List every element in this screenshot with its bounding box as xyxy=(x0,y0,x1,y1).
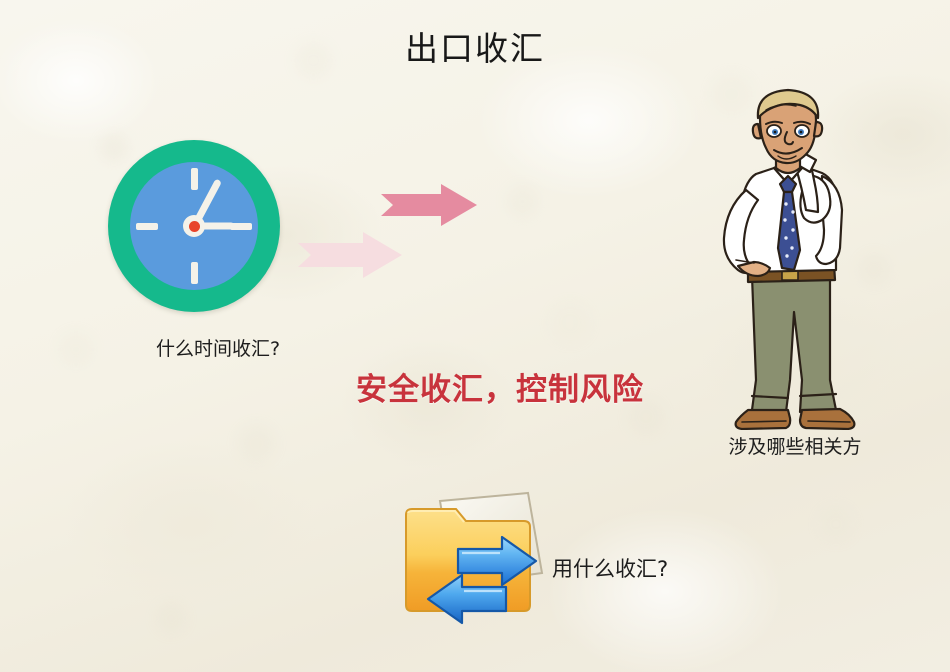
clock-tick-12 xyxy=(191,168,198,190)
clock-tick-6 xyxy=(191,262,198,284)
clock-icon xyxy=(108,140,280,312)
clock-face xyxy=(130,162,258,290)
highlight-text: 安全收汇，控制风险 xyxy=(330,364,670,409)
businessman-thinking-icon xyxy=(690,80,890,430)
folder-caption: 用什么收汇? xyxy=(552,553,668,583)
folder-exchange-icon xyxy=(396,487,576,627)
pink-arrow-lower xyxy=(298,232,402,278)
clock-caption: 什么时间收汇? xyxy=(118,334,318,361)
businessman-caption: 涉及哪些相关方 xyxy=(690,432,900,459)
pink-arrow-upper xyxy=(381,184,477,226)
clock-tick-9 xyxy=(136,223,158,230)
page-title: 出口收汇 xyxy=(0,32,950,65)
clock-hub-dot xyxy=(189,221,200,232)
slide-canvas: 出口收汇 什么时间收汇? 安全收汇，控制风险 xyxy=(0,0,950,672)
